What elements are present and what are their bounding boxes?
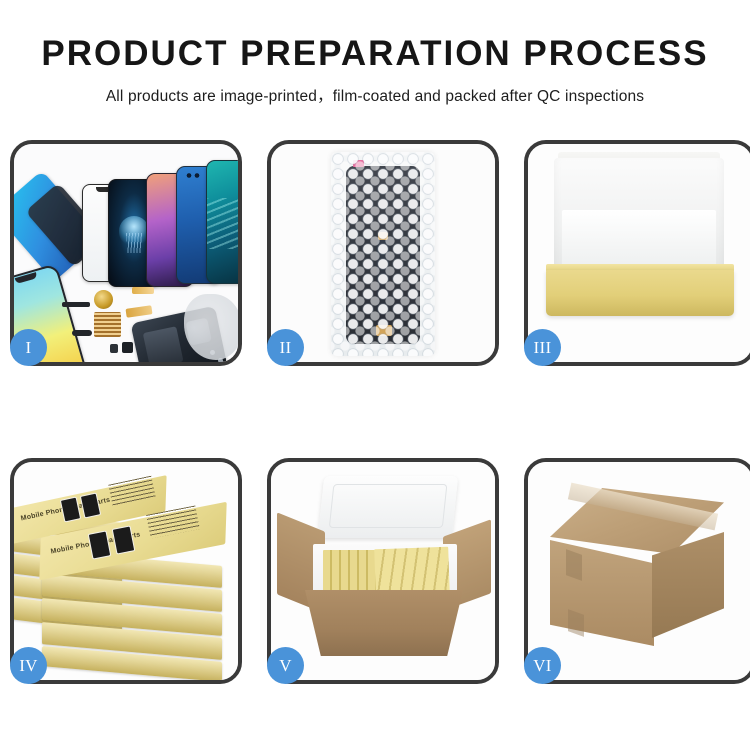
flex-cable-b bbox=[132, 287, 154, 294]
foam-sheet bbox=[554, 158, 724, 280]
step-badge-5: V bbox=[267, 647, 304, 684]
notch bbox=[15, 272, 38, 284]
step-badge-2: II bbox=[267, 329, 304, 366]
carton-body bbox=[305, 590, 463, 656]
step-panel-2: II bbox=[267, 140, 499, 366]
step-image-5 bbox=[271, 462, 495, 680]
jellyfish-graphic bbox=[119, 216, 149, 246]
flex-cable-a bbox=[126, 305, 153, 318]
step-panel-5: V bbox=[267, 458, 499, 684]
step-badge-3: III bbox=[524, 329, 561, 366]
chip-component bbox=[94, 312, 121, 337]
small-part-c bbox=[122, 342, 133, 353]
tape-strip-upper bbox=[566, 549, 582, 581]
bubble-texture-offset bbox=[331, 152, 435, 356]
small-part-a bbox=[72, 330, 92, 336]
yellow-box-tray bbox=[546, 270, 734, 316]
step-image-6 bbox=[528, 462, 750, 680]
step-panel-4: Mobile Phone Spare Parts Mobile Phone Sp… bbox=[10, 458, 242, 684]
swirl-graphic bbox=[207, 198, 238, 249]
step-badge-6: VI bbox=[524, 647, 561, 684]
bubble-wrap-bag bbox=[331, 152, 435, 356]
step-image-3 bbox=[528, 144, 750, 362]
step-panel-1: I bbox=[10, 140, 242, 366]
foam-lid-open bbox=[318, 476, 459, 538]
camera-holes bbox=[186, 173, 202, 178]
box-stack: Mobile Phone Spare Parts Mobile Phone Sp… bbox=[14, 462, 238, 680]
step-badge-1: I bbox=[10, 329, 47, 366]
small-part-b bbox=[110, 344, 118, 353]
step-panel-6: VI bbox=[524, 458, 750, 684]
vibration-motor-part bbox=[94, 290, 113, 309]
step-image-4: Mobile Phone Spare Parts Mobile Phone Sp… bbox=[14, 462, 238, 680]
page-subtitle: All products are image-printed，film-coat… bbox=[0, 71, 750, 106]
steps-grid: I II bbox=[10, 140, 740, 680]
phone-teal-wallpaper bbox=[206, 160, 238, 284]
step-badge-4: IV bbox=[10, 647, 47, 684]
header: PRODUCT PREPARATION PROCESS All products… bbox=[0, 0, 750, 106]
yellow-boxes-inside-right bbox=[374, 547, 450, 596]
earpiece-part bbox=[62, 302, 90, 307]
step-image-1 bbox=[14, 144, 238, 362]
page-title: PRODUCT PREPARATION PROCESS bbox=[0, 0, 750, 71]
tape-strip-lower bbox=[568, 609, 584, 637]
product-preparation-infographic: PRODUCT PREPARATION PROCESS All products… bbox=[0, 0, 750, 750]
step-panel-3: III bbox=[524, 140, 750, 366]
step-image-2 bbox=[271, 144, 495, 362]
